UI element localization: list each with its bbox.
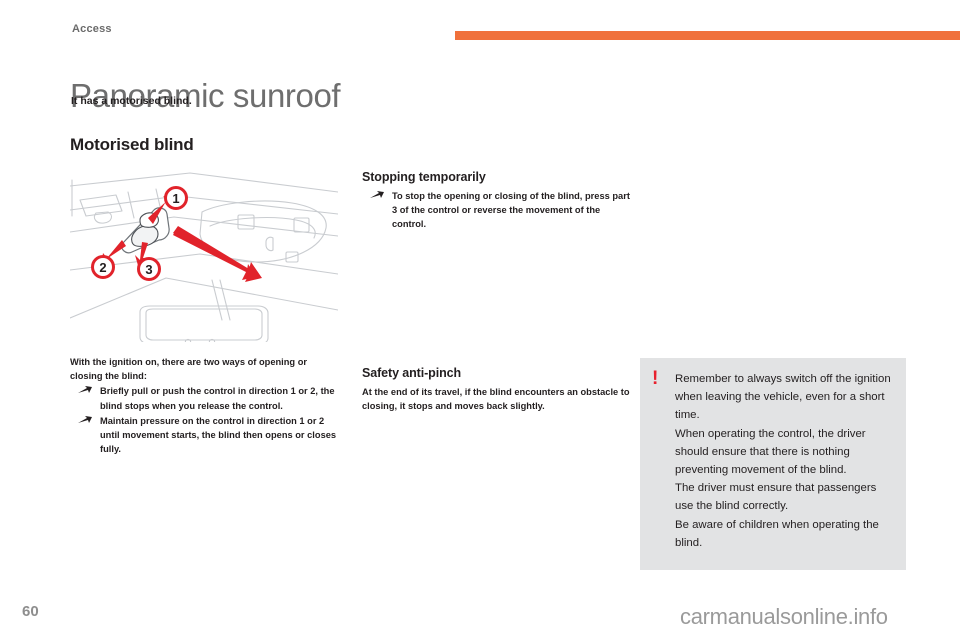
stopping-bullet-list: To stop the opening or closing of the bl… [362, 189, 630, 232]
middle-column: Stopping temporarily To stop the opening… [362, 170, 630, 413]
arrow-bullet-icon [370, 191, 384, 201]
subsection-title-safety: Safety anti-pinch [362, 366, 630, 380]
page-subtitle: It has a motorised blind. [71, 95, 192, 107]
warning-box: ! Remember to always switch off the igni… [640, 358, 906, 570]
header-rule [455, 31, 960, 40]
svg-text:1: 1 [172, 191, 179, 206]
list-item: To stop the opening or closing of the bl… [362, 189, 630, 232]
right-column: ! Remember to always switch off the igni… [640, 358, 906, 570]
warning-exclamation-icon: ! [652, 369, 658, 388]
left-intro-text: With the ignition on, there are two ways… [70, 355, 338, 383]
list-item-label: To stop the opening or closing of the bl… [392, 191, 630, 229]
list-item-label: Briefly pull or push the control in dire… [100, 386, 335, 410]
list-item: Maintain pressure on the control in dire… [70, 414, 338, 457]
site-watermark: carmanualsonline.info [680, 604, 888, 630]
left-bullet-list: Briefly pull or push the control in dire… [70, 384, 338, 456]
arrow-bullet-icon [78, 416, 92, 426]
warning-text: Remember to always switch off the igniti… [675, 370, 892, 552]
running-head: Access [72, 23, 112, 35]
subsection-title-stopping: Stopping temporarily [362, 170, 630, 184]
list-item-label: Maintain pressure on the control in dire… [100, 416, 336, 454]
svg-text:2: 2 [99, 260, 106, 275]
sunroof-control-illustration: 1 2 3 [70, 170, 338, 342]
list-item: Briefly pull or push the control in dire… [70, 384, 338, 412]
page-number: 60 [22, 603, 39, 620]
section-title: Motorised blind [70, 135, 194, 155]
safety-body-text: At the end of its travel, if the blind e… [362, 385, 630, 413]
arrow-bullet-icon [78, 386, 92, 396]
left-column: 1 2 3 With the ignition on, there are tw… [70, 170, 338, 457]
svg-text:3: 3 [145, 262, 152, 277]
